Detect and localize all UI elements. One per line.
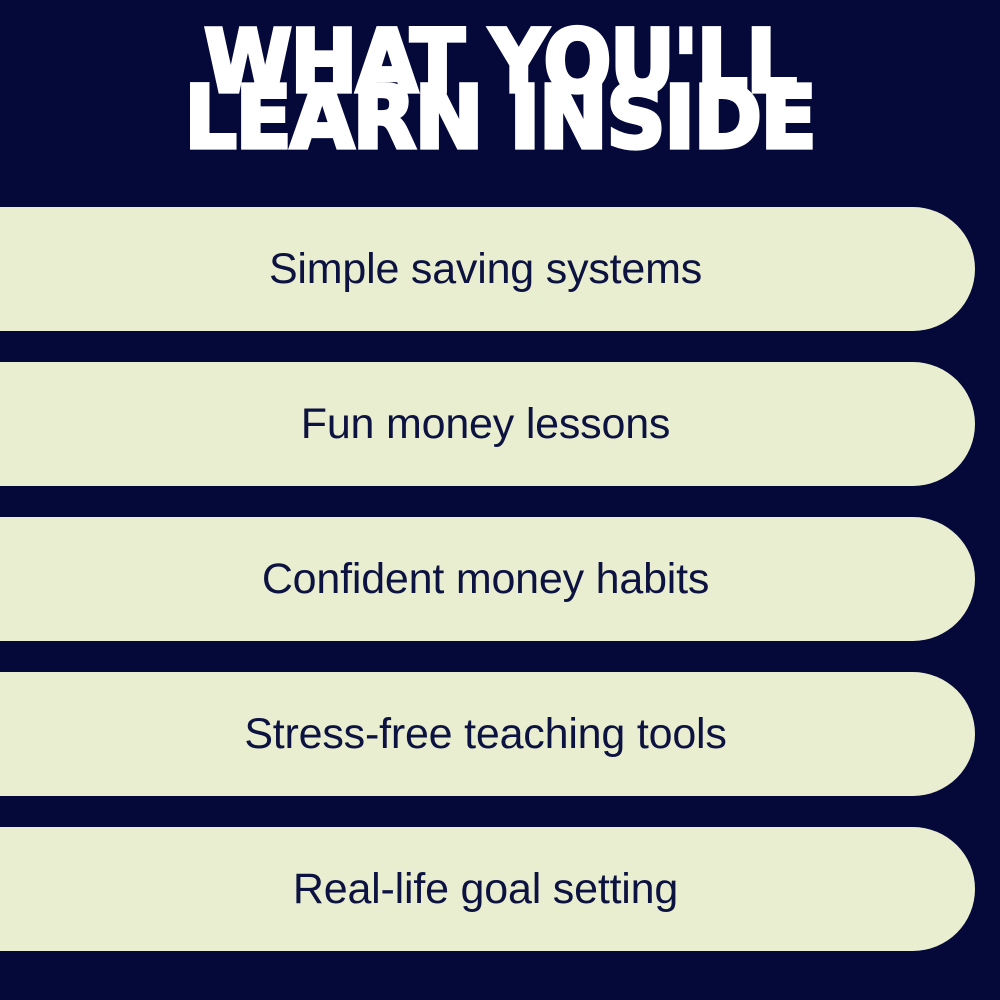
list-item: Fun money lessons bbox=[0, 362, 975, 486]
page-title-line-2: LEARN INSIDE bbox=[0, 84, 1000, 152]
list-item-label: Fun money lessons bbox=[301, 403, 670, 446]
list-item: Stress-free teaching tools bbox=[0, 672, 975, 796]
feature-list: Simple saving systems Fun money lessons … bbox=[0, 207, 1000, 951]
list-item-label: Confident money habits bbox=[262, 558, 709, 601]
list-item-label: Stress-free teaching tools bbox=[244, 713, 726, 756]
list-item: Real-life goal setting bbox=[0, 827, 975, 951]
list-item: Simple saving systems bbox=[0, 207, 975, 331]
page-title: WHAT YOU'LL LEARN INSIDE bbox=[0, 34, 1000, 146]
list-item: Confident money habits bbox=[0, 517, 975, 641]
list-item-label: Simple saving systems bbox=[269, 248, 702, 291]
list-item-label: Real-life goal setting bbox=[293, 868, 678, 911]
poster-canvas: WHAT YOU'LL LEARN INSIDE Simple saving s… bbox=[0, 0, 1000, 1000]
